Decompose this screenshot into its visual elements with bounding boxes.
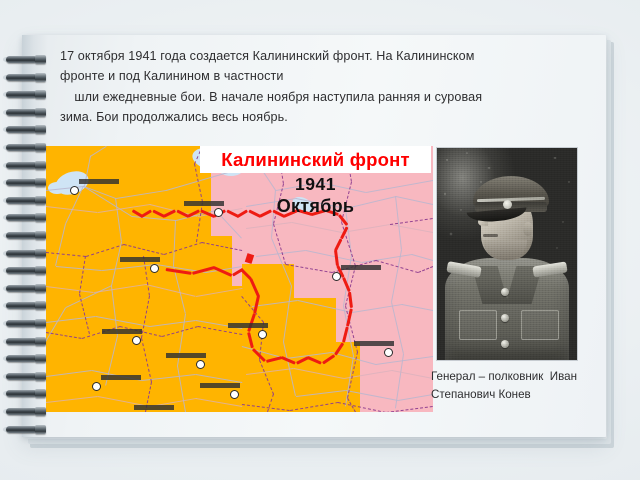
ring-coil — [6, 250, 36, 257]
spiral-ring — [6, 73, 48, 82]
ring-coil — [6, 355, 36, 362]
ring-coil — [6, 338, 36, 345]
front-line-segment — [163, 209, 176, 218]
ring-cap — [35, 231, 46, 240]
spiral-ring — [6, 231, 48, 240]
city-label — [79, 179, 119, 184]
spiral-ring — [6, 161, 48, 170]
map-title: Калининский фронт — [221, 149, 410, 171]
border-line — [164, 242, 202, 255]
spiral-ring — [6, 319, 48, 328]
spiral-ring — [6, 407, 48, 416]
caption-line-2: Степанович Конев — [431, 386, 596, 404]
map-title-box: Калининский фронт — [200, 146, 431, 173]
rail-line — [177, 366, 186, 412]
spiral-ring — [6, 372, 48, 381]
city-label — [166, 353, 206, 358]
ring-coil — [6, 56, 36, 63]
ring-coil — [6, 320, 36, 327]
rail-line — [102, 264, 156, 271]
spiral-ring — [6, 125, 48, 134]
city-dot-icon — [332, 272, 341, 281]
border-line — [79, 256, 86, 294]
rail-line — [196, 374, 242, 383]
city-label — [354, 341, 394, 346]
map-month: Октябрь — [200, 196, 431, 217]
road-line — [196, 288, 242, 297]
spiral-ring — [6, 266, 48, 275]
spiral-ring — [6, 55, 48, 64]
ring-coil — [6, 214, 36, 221]
rail-line — [116, 190, 166, 199]
konev-photograph — [437, 148, 577, 360]
ring-cap — [35, 407, 46, 416]
ring-coil — [6, 267, 36, 274]
border-line — [124, 244, 164, 255]
ring-cap — [35, 284, 46, 293]
ring-coil — [6, 109, 36, 116]
city-dot-icon — [258, 330, 267, 339]
intro-paragraph: 17 октября 1941 года создается Калининск… — [60, 46, 576, 128]
spiral-ring — [6, 354, 48, 363]
intro-line-3: шли ежедневные бои. В начале ноября наст… — [60, 87, 576, 107]
ring-coil — [6, 162, 36, 169]
ring-coil — [6, 426, 36, 433]
ring-cap — [35, 125, 46, 134]
ring-cap — [35, 143, 46, 152]
ring-coil — [6, 74, 36, 81]
intro-line-2: фронте и под Калинином в частности — [60, 66, 576, 86]
ring-cap — [35, 337, 46, 346]
border-line — [162, 326, 198, 337]
city-label — [341, 265, 381, 270]
rail-line — [132, 216, 176, 221]
photo-grain — [437, 148, 577, 360]
ring-cap — [35, 249, 46, 258]
border-line — [141, 338, 152, 382]
city-label — [102, 329, 142, 334]
intro-line-1: 17 октября 1941 года создается Калининск… — [60, 46, 576, 66]
city-dot-icon — [230, 390, 239, 399]
ring-coil — [6, 179, 36, 186]
spiral-ring — [6, 284, 48, 293]
spiral-binding — [0, 0, 58, 480]
ring-cap — [35, 161, 46, 170]
front-line-segment — [176, 209, 189, 218]
road-line — [196, 398, 242, 407]
city-dot-icon — [92, 382, 101, 391]
ring-cap — [35, 389, 46, 398]
border-line — [79, 294, 90, 334]
ring-coil — [6, 408, 36, 415]
front-line-segment — [152, 209, 165, 218]
ring-cap — [35, 425, 46, 434]
ring-coil — [6, 91, 36, 98]
ring-coil — [6, 197, 36, 204]
ring-cap — [35, 266, 46, 275]
city-dot-icon — [384, 348, 393, 357]
ring-cap — [35, 301, 46, 310]
spiral-ring — [6, 249, 48, 258]
ring-coil — [6, 126, 36, 133]
rail-line — [173, 220, 176, 266]
spiral-ring — [6, 143, 48, 152]
city-label — [134, 405, 174, 410]
caption-line-1: Генерал – полковник Иван — [431, 368, 596, 386]
city-label — [228, 323, 268, 328]
intro-line-4: зима. Бои продолжались весь ноябрь. — [60, 107, 576, 127]
rail-line — [96, 316, 150, 327]
ring-cap — [35, 372, 46, 381]
spiral-ring — [6, 301, 48, 310]
spiral-ring — [6, 90, 48, 99]
city-dot-icon — [150, 264, 159, 273]
ring-cap — [35, 196, 46, 205]
ring-coil — [6, 302, 36, 309]
ring-coil — [6, 144, 36, 151]
city-label — [200, 383, 240, 388]
city-label — [101, 375, 141, 380]
ring-cap — [35, 178, 46, 187]
city-label — [120, 257, 160, 262]
road-line — [146, 284, 196, 297]
ring-coil — [6, 285, 36, 292]
spiral-ring — [6, 425, 48, 434]
photo-caption: Генерал – полковник Иван Степанович Коне… — [431, 368, 596, 403]
city-dot-icon — [132, 336, 141, 345]
map-year: 1941 — [200, 174, 431, 195]
city-dot-icon — [196, 360, 205, 369]
ring-cap — [35, 73, 46, 82]
ring-coil — [6, 373, 36, 380]
ring-cap — [35, 90, 46, 99]
ring-cap — [35, 108, 46, 117]
spiral-ring — [6, 389, 48, 398]
spiral-ring — [6, 337, 48, 346]
spiral-ring — [6, 213, 48, 222]
spiral-ring — [6, 196, 48, 205]
rail-line — [56, 266, 102, 271]
ring-coil — [6, 232, 36, 239]
rail-line — [150, 320, 196, 327]
spiral-ring — [6, 178, 48, 187]
border-line — [143, 256, 150, 296]
ring-cap — [35, 319, 46, 328]
ring-coil — [6, 390, 36, 397]
rail-line — [115, 198, 122, 242]
ring-cap — [35, 55, 46, 64]
city-dot-icon — [70, 186, 79, 195]
ring-cap — [35, 354, 46, 363]
spiral-ring — [6, 108, 48, 117]
rail-line — [90, 146, 107, 157]
ring-cap — [35, 213, 46, 222]
